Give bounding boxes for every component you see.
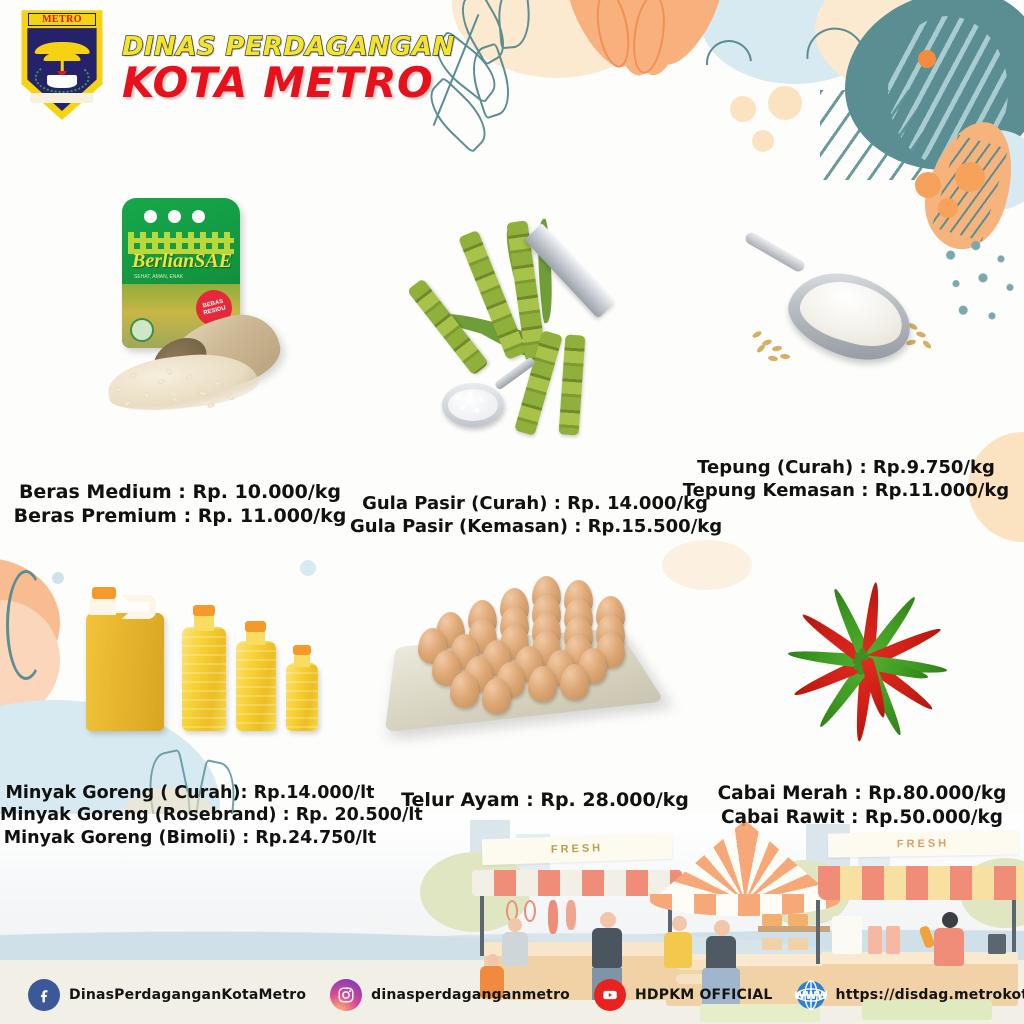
price-line: Telur Ayam : Rp. 28.000/kg [390,788,700,812]
footer-social-bar: DinasPerdaganganKotaMetro dinasperdagang… [0,972,1024,1018]
price-line: Beras Medium : Rp. 10.000/kg [0,480,360,504]
price-line: Minyak Goreng (Bimoli) : Rp.24.750/lt [0,827,380,849]
deco-dot-orange-1 [915,172,941,198]
product-image-telur [378,566,668,766]
deco-arc-2 [794,16,877,99]
deco-arc-1 [697,31,762,96]
deco-squiggle-left [6,570,46,680]
poster-header: METRO DINAS PERDAGANGAN KOTA METRO [18,8,455,120]
youtube-handle: HDPKM OFFICIAL [635,987,773,1003]
price-line: Gula Pasir (Curah) : Rp. 14.000/kg [350,492,720,515]
deco-petal-outline-1 [591,0,634,70]
product-price-tepung: Tepung (Curah) : Rp.9.750/kg Tepung Kema… [668,456,1024,502]
deco-petal-3 [629,0,696,79]
price-line: Gula Pasir (Kemasan) : Rp.15.500/kg [350,515,720,538]
product-image-gula [420,215,650,455]
deco-dot-orange-2 [955,162,985,192]
product-price-telur: Telur Ayam : Rp. 28.000/kg [390,788,700,812]
deco-dot-orange-3 [938,198,958,218]
product-price-minyak: Minyak Goreng ( Curah): Rp.14.000/lt Min… [0,782,380,849]
deco-petal-outline-2 [629,0,670,76]
header-title-line1: DINAS PERDAGANGAN [122,34,455,60]
market-banner-right: FRESH [828,830,1018,857]
deco-outline-leaf-4 [464,42,518,119]
deco-outline-leaf-1 [451,0,515,66]
deco-blob-cream-1 [452,0,662,78]
product-price-cabai: Cabai Merah : Rp.80.000/kg Cabai Rawit :… [700,782,1024,829]
price-line: Tepung Kemasan : Rp.11.000/kg [668,479,1024,502]
deco-dot-cream-1 [730,96,756,122]
metro-city-crest-icon: METRO [18,8,106,120]
deco-blob-left-peach [0,600,60,720]
social-website[interactable]: WWW https://disdag.metrokota.go.id/ [795,979,1024,1011]
rice-brand-text: BerlianSAE [132,250,232,273]
deco-leaf-orange-veins [932,135,1008,242]
deco-dot-orange-4 [918,50,936,68]
deco-blob-left-orange [0,558,60,688]
social-facebook[interactable]: DinasPerdaganganKotaMetro [28,979,306,1011]
deco-petal-4 [644,0,735,74]
youtube-icon[interactable] [594,979,626,1011]
deco-dot-cream-3 [752,130,774,152]
product-image-tepung [730,228,960,408]
deco-wave-line [985,300,1024,460]
deco-blob-mid-2 [662,540,752,590]
deco-blob-cream-2 [815,0,965,90]
price-line: Minyak Goreng ( Curah): Rp.14.000/lt [0,782,380,804]
product-image-minyak [70,575,340,765]
product-price-beras: Beras Medium : Rp. 10.000/kg Beras Premi… [0,480,360,529]
deco-dot-cream-2 [768,86,802,120]
product-image-cabai [762,566,972,766]
deco-petal-1 [552,0,646,76]
price-line: Cabai Rawit : Rp.50.000/kg [700,806,1024,830]
website-url: https://disdag.metrokota.go.id/ [836,987,1024,1003]
deco-blob-blue-1 [700,0,890,84]
crest-banner-text: METRO [42,14,82,25]
price-info-poster: METRO DINAS PERDAGANGAN KOTA METRO Berli… [0,0,1024,1024]
product-price-gula: Gula Pasir (Curah) : Rp. 14.000/kg Gula … [350,492,720,538]
deco-blob-blue-2 [954,130,1024,210]
instagram-icon[interactable] [330,979,362,1011]
deco-dot-left-1 [52,572,64,584]
header-title-line2: KOTA METRO [122,62,455,104]
social-instagram[interactable]: dinasperdaganganmetro [330,979,570,1011]
price-line: Minyak Goreng (Rosebrand) : Rp. 20.500/l… [0,804,380,826]
deco-dash-field [820,90,930,180]
price-line: Beras Premium : Rp. 11.000/kg [0,504,360,528]
deco-outline-leaf-2 [495,0,532,49]
deco-leaf-veins [888,16,1008,166]
globe-www-icon[interactable]: WWW [795,979,827,1011]
facebook-icon[interactable] [28,979,60,1011]
deco-petal-2 [599,0,663,79]
price-line: Cabai Merah : Rp.80.000/kg [700,782,1024,806]
svg-text:WWW: WWW [795,990,827,1002]
price-line: Tepung (Curah) : Rp.9.750/kg [668,456,1024,479]
instagram-handle: dinasperdaganganmetro [371,987,570,1003]
social-youtube[interactable]: HDPKM OFFICIAL [594,979,773,1011]
deco-leaf-teal-big [845,0,1024,170]
deco-dot-mid-1 [300,560,316,576]
product-image-beras: BerlianSAE SEHAT, AMAN, ENAK BEBASRESIDU [70,198,370,448]
facebook-handle: DinasPerdaganganKotaMetro [69,987,306,1003]
